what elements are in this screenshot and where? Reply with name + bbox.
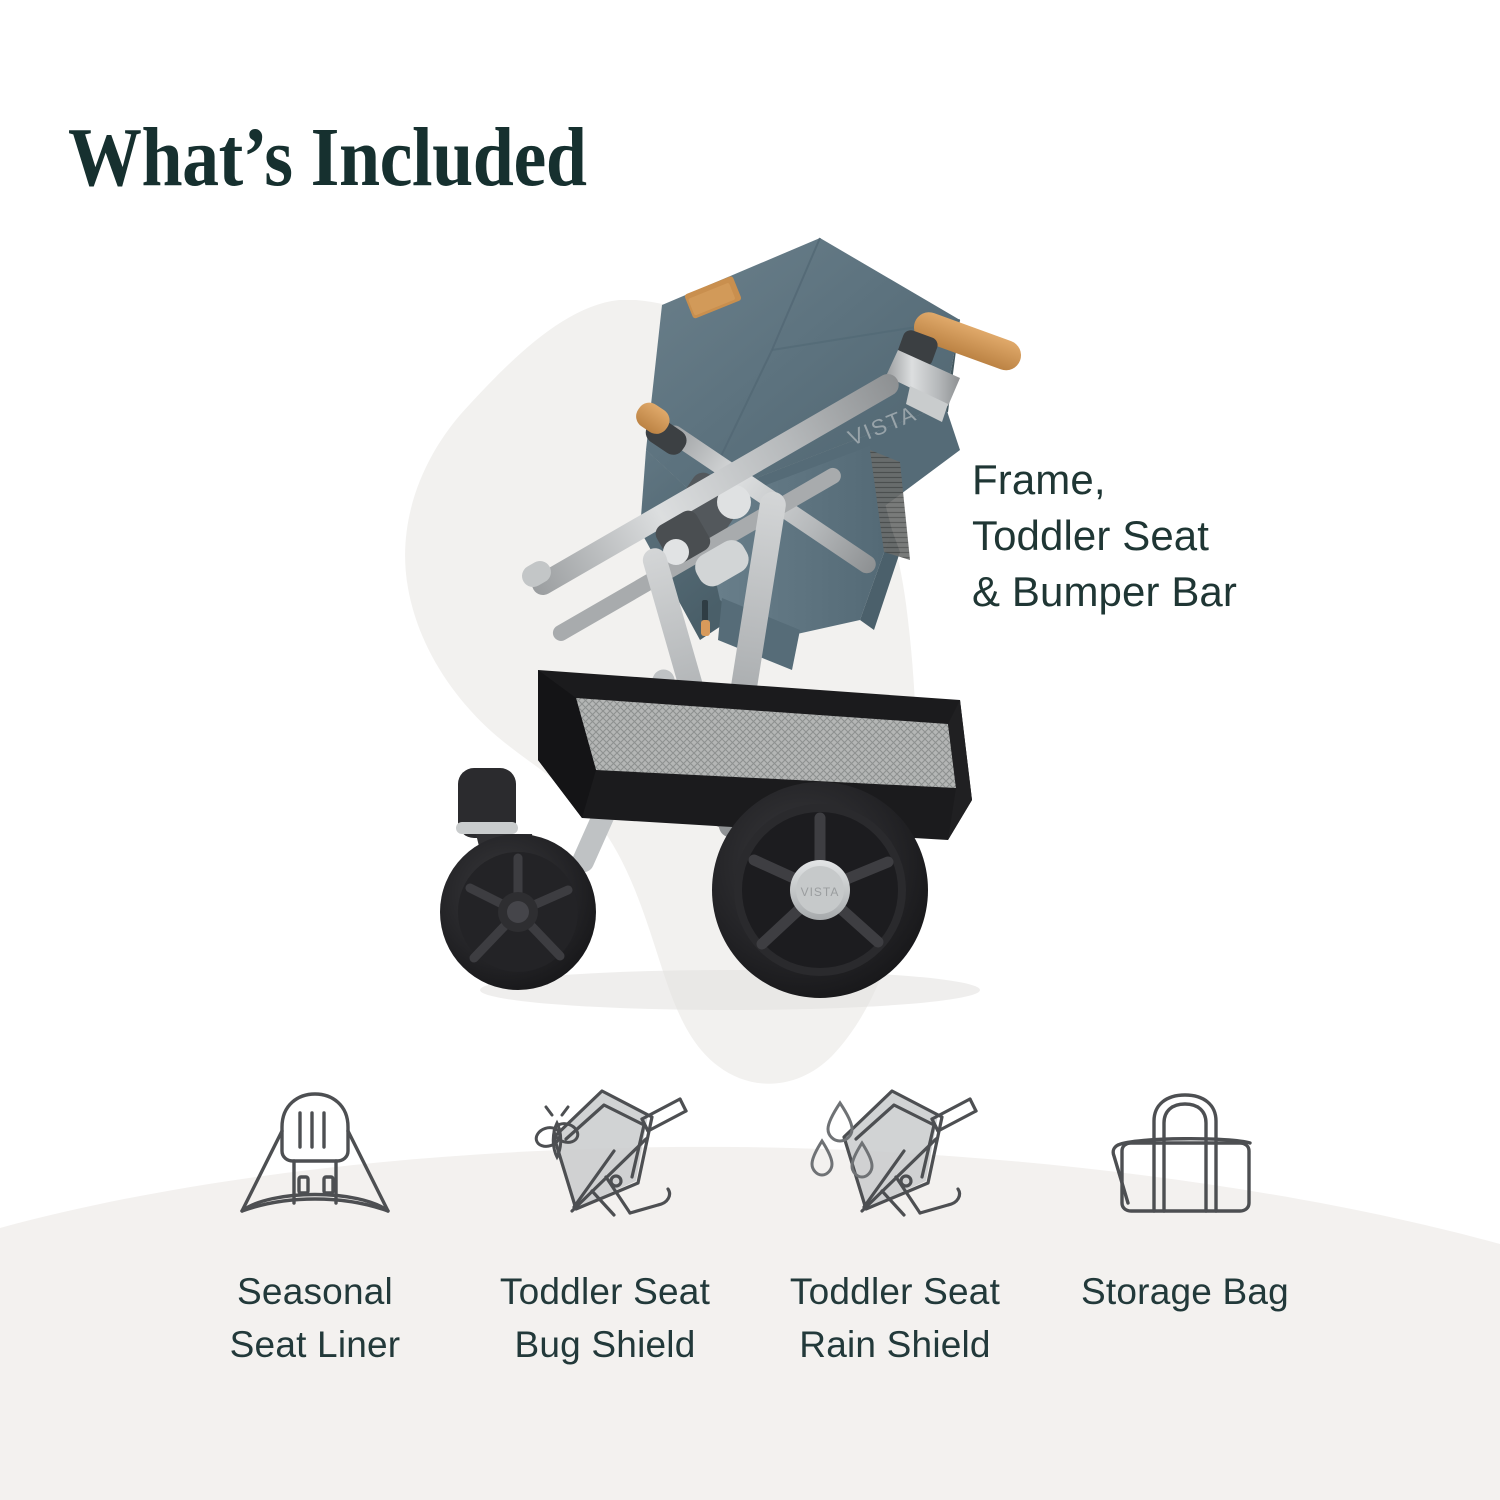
hero-caption-line-2: Toddler Seat bbox=[972, 508, 1237, 564]
svg-text:VISTA: VISTA bbox=[801, 885, 840, 899]
rain-shield-icon bbox=[800, 1085, 990, 1220]
rear-wheel: VISTA bbox=[712, 782, 928, 998]
bug-shield-icon bbox=[510, 1085, 700, 1220]
stroller-product-image: VISTA bbox=[400, 200, 1040, 1030]
included-item-label: Storage Bag bbox=[1081, 1266, 1289, 1319]
included-item-storage-bag: Storage Bag bbox=[1040, 1085, 1330, 1319]
included-item-label: Toddler Seat Bug Shield bbox=[500, 1266, 710, 1371]
storage-bag-icon-wrap bbox=[1090, 1085, 1280, 1220]
seat-liner-icon-wrap bbox=[220, 1085, 410, 1220]
included-item-seasonal-seat-liner: Seasonal Seat Liner bbox=[170, 1085, 460, 1371]
page-title: What’s Included bbox=[68, 114, 586, 202]
seat-liner-icon bbox=[220, 1085, 410, 1220]
bug-shield-icon-wrap bbox=[510, 1085, 700, 1220]
hero-caption-line-3: & Bumper Bar bbox=[972, 564, 1237, 620]
rain-shield-icon-wrap bbox=[800, 1085, 990, 1220]
included-item-label: Seasonal Seat Liner bbox=[230, 1266, 401, 1371]
included-item-toddler-seat-bug-shield: Toddler Seat Bug Shield bbox=[460, 1085, 750, 1371]
included-item-toddler-seat-rain-shield: Toddler Seat Rain Shield bbox=[750, 1085, 1040, 1371]
hero-caption-line-1: Frame, bbox=[972, 452, 1237, 508]
included-item-label: Toddler Seat Rain Shield bbox=[790, 1266, 1000, 1371]
storage-bag-icon bbox=[1090, 1085, 1280, 1220]
included-items-row: Seasonal Seat Liner bbox=[0, 1085, 1500, 1425]
hero-caption: Frame, Toddler Seat & Bumper Bar bbox=[972, 452, 1237, 620]
